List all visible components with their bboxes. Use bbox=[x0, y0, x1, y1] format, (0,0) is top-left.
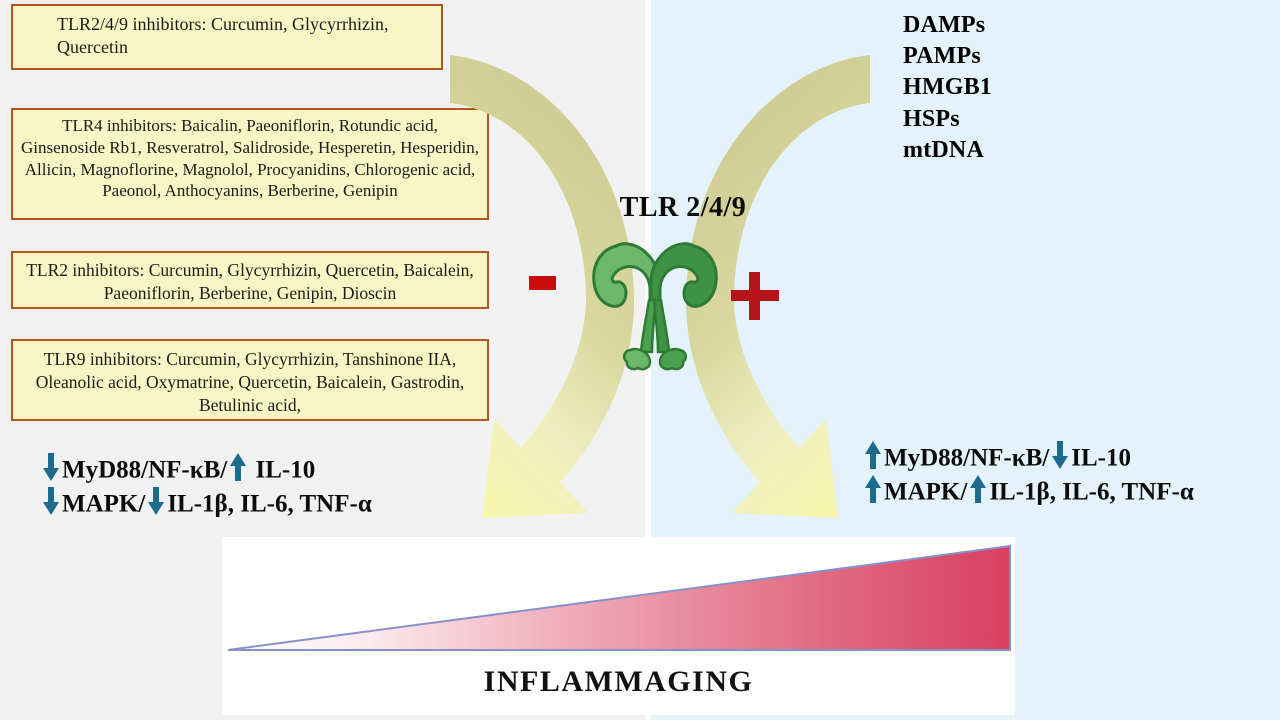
down-arrow-icon bbox=[41, 452, 61, 482]
plus-sign-icon bbox=[731, 272, 779, 320]
inflammaging-panel: INFLAMMAGING bbox=[222, 537, 1015, 715]
up-arrow-icon bbox=[863, 474, 883, 504]
ligand-damps: DAMPs bbox=[903, 10, 1203, 41]
down-arrow-icon bbox=[1050, 440, 1070, 470]
up-arrow-icon bbox=[228, 452, 248, 482]
receptor-right-stalk bbox=[654, 300, 669, 352]
inhibition-pathway-line-1-text-b: IL-10 bbox=[249, 457, 315, 484]
inhibitor-box-tlr9: TLR9 inhibitors: Curcumin, Glycyrrhizin,… bbox=[11, 339, 489, 421]
inflammaging-label: INFLAMMAGING bbox=[222, 665, 1015, 699]
ligand-pamps: PAMPs bbox=[903, 41, 1203, 72]
inhibitor-box-tlr9-text: TLR9 inhibitors: Curcumin, Glycyrrhizin,… bbox=[21, 348, 479, 416]
page-title: TLR 2/4/9 bbox=[588, 192, 778, 224]
inflammaging-triangle-path bbox=[228, 546, 1010, 650]
inhibitor-box-tlr2-text: TLR2 inhibitors: Curcumin, Glycyrrhizin,… bbox=[21, 259, 479, 305]
activation-pathway-line-1: MyD88/NF-κB/ IL-10 bbox=[862, 440, 1194, 474]
ligand-hmgb1: HMGB1 bbox=[903, 72, 1203, 103]
inhibition-pathway-line-1: MyD88/NF-κB/ IL-10 bbox=[40, 452, 372, 486]
inhibitor-box-tlr2: TLR2 inhibitors: Curcumin, Glycyrrhizin,… bbox=[11, 251, 489, 309]
down-arrow-icon bbox=[41, 486, 61, 516]
activation-pathway-line-1-text-a: MyD88/NF-κB/ bbox=[884, 445, 1049, 472]
diagram-canvas: TLR2/4/9 inhibitors: Curcumin, Glycyrrhi… bbox=[0, 0, 1280, 720]
inhibitor-box-tlr4: TLR4 inhibitors: Baicalin, Paeoniflorin,… bbox=[11, 108, 489, 220]
up-arrow-icon bbox=[863, 440, 883, 470]
receptor-right-tir-domain bbox=[660, 349, 686, 369]
ligand-mtdna: mtDNA bbox=[903, 135, 1203, 166]
ligand-hsps: HSPs bbox=[903, 104, 1203, 135]
activation-pathway-line-2-text-a: MAPK/ bbox=[884, 479, 967, 506]
inhibition-pathway-line-2: MAPK/ IL-1β, IL-6, TNF-α bbox=[40, 486, 372, 520]
inflammaging-gradient-triangle bbox=[222, 543, 1015, 655]
activation-pathway-line-2-text-b: IL-1β, IL-6, TNF-α bbox=[989, 479, 1193, 506]
down-arrow-icon bbox=[146, 486, 166, 516]
inhibition-pathway-line-2-text-a: MAPK/ bbox=[62, 491, 145, 518]
inhibitor-box-tlr249-text: TLR2/4/9 inhibitors: Curcumin, Glycyrrhi… bbox=[57, 13, 433, 60]
inhibition-pathway-line-2-text-b: IL-1β, IL-6, TNF-α bbox=[167, 491, 371, 518]
activation-pathway-readout: MyD88/NF-κB/ IL-10 MAPK/ IL-1β, IL-6, TN… bbox=[862, 440, 1194, 508]
inhibitor-box-tlr4-text: TLR4 inhibitors: Baicalin, Paeoniflorin,… bbox=[21, 115, 479, 202]
up-arrow-icon bbox=[968, 474, 988, 504]
inhibition-pathway-line-1-text-a: MyD88/NF-κB/ bbox=[62, 457, 227, 484]
activation-pathway-line-2: MAPK/ IL-1β, IL-6, TNF-α bbox=[862, 474, 1194, 508]
activation-pathway-line-1-text-b: IL-10 bbox=[1071, 445, 1131, 472]
ligand-list: DAMPs PAMPs HMGB1 HSPs mtDNA bbox=[903, 10, 1203, 166]
tlr-dimer-receptor-icon bbox=[586, 232, 726, 372]
inhibitor-box-tlr249: TLR2/4/9 inhibitors: Curcumin, Glycyrrhi… bbox=[11, 4, 443, 70]
minus-sign-icon bbox=[529, 276, 556, 290]
inhibition-pathway-readout: MyD88/NF-κB/ IL-10 MAPK/ IL-1β, IL-6, TN… bbox=[40, 452, 372, 520]
receptor-left-tir-domain bbox=[624, 349, 650, 369]
plus-sign-vertical-bar bbox=[749, 272, 760, 320]
